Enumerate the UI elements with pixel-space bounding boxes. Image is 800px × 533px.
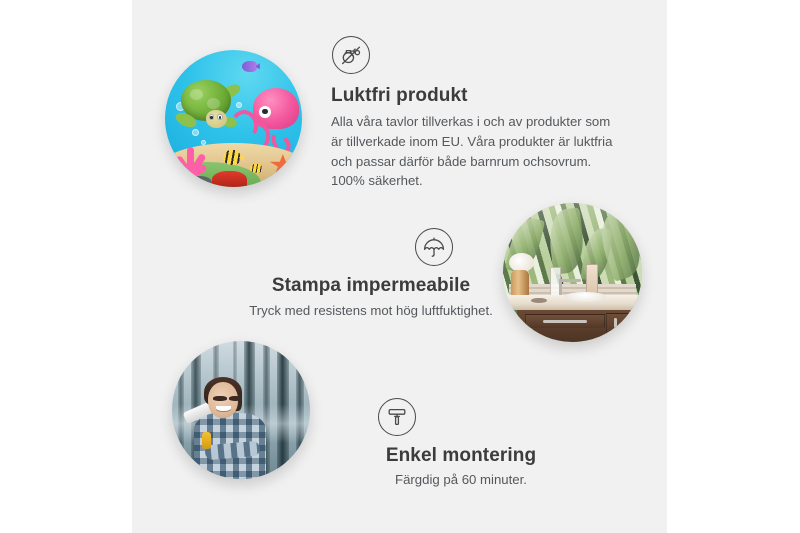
no-odour-perfume-bottle-icon [332, 36, 370, 74]
feature-title: Enkel montering [328, 445, 594, 467]
feature-body: Tryck med resistens mot hög luftfuktighe… [204, 301, 538, 321]
small-striped-fish [250, 164, 262, 174]
feature-body: Alla våra tavlor tillverkas i och av pro… [331, 112, 622, 191]
feature-easy-mounting: Enkel montering Färgdig på 60 minuter. [328, 398, 594, 490]
sink-basin [564, 292, 606, 302]
screenshot-root: Luktfri produkt Alla våra tavlor tillver… [0, 0, 800, 533]
bathroom-scene [503, 203, 642, 342]
faucet [559, 279, 562, 294]
wooden-vanity [517, 310, 642, 342]
underwater-cartoon-medallion [165, 50, 302, 187]
vanity-door [606, 313, 640, 341]
feature-body: Färgdig på 60 minuter. [328, 470, 594, 490]
paint-roller-grip [202, 432, 210, 449]
feature-icon-wrap [204, 228, 538, 266]
turtle-eye [217, 114, 222, 120]
underwater-scene [165, 50, 302, 187]
turtle-head [206, 110, 227, 128]
crab [212, 171, 248, 187]
umbrella-icon [415, 228, 453, 266]
octopus-eye [259, 106, 271, 118]
vanity-drawer [525, 314, 605, 328]
feature-odourless: Luktfri produkt Alla våra tavlor tillver… [331, 36, 634, 191]
feature-icon-wrap [328, 398, 594, 436]
turtle-eye [209, 114, 214, 120]
yellow-striped-fish [223, 150, 241, 165]
woman-eye [213, 396, 227, 401]
coral [173, 135, 206, 176]
woman-with-paint-roller-forest-medallion [172, 341, 310, 479]
forest-scene [172, 341, 310, 479]
woman-eye [229, 396, 243, 401]
content-canvas: Luktfri produkt Alla våra tavlor tillver… [132, 0, 667, 533]
feature-title: Luktfri produkt [331, 85, 634, 107]
feature-waterproof: Stampa impermeabile Tryck med resistens … [204, 228, 538, 321]
feature-title: Stampa impermeabile [204, 275, 538, 297]
bathroom-tropical-wallpaper-medallion [503, 203, 642, 342]
paint-roller-icon [378, 398, 416, 436]
rock [181, 176, 211, 187]
purple-fish [242, 61, 257, 72]
